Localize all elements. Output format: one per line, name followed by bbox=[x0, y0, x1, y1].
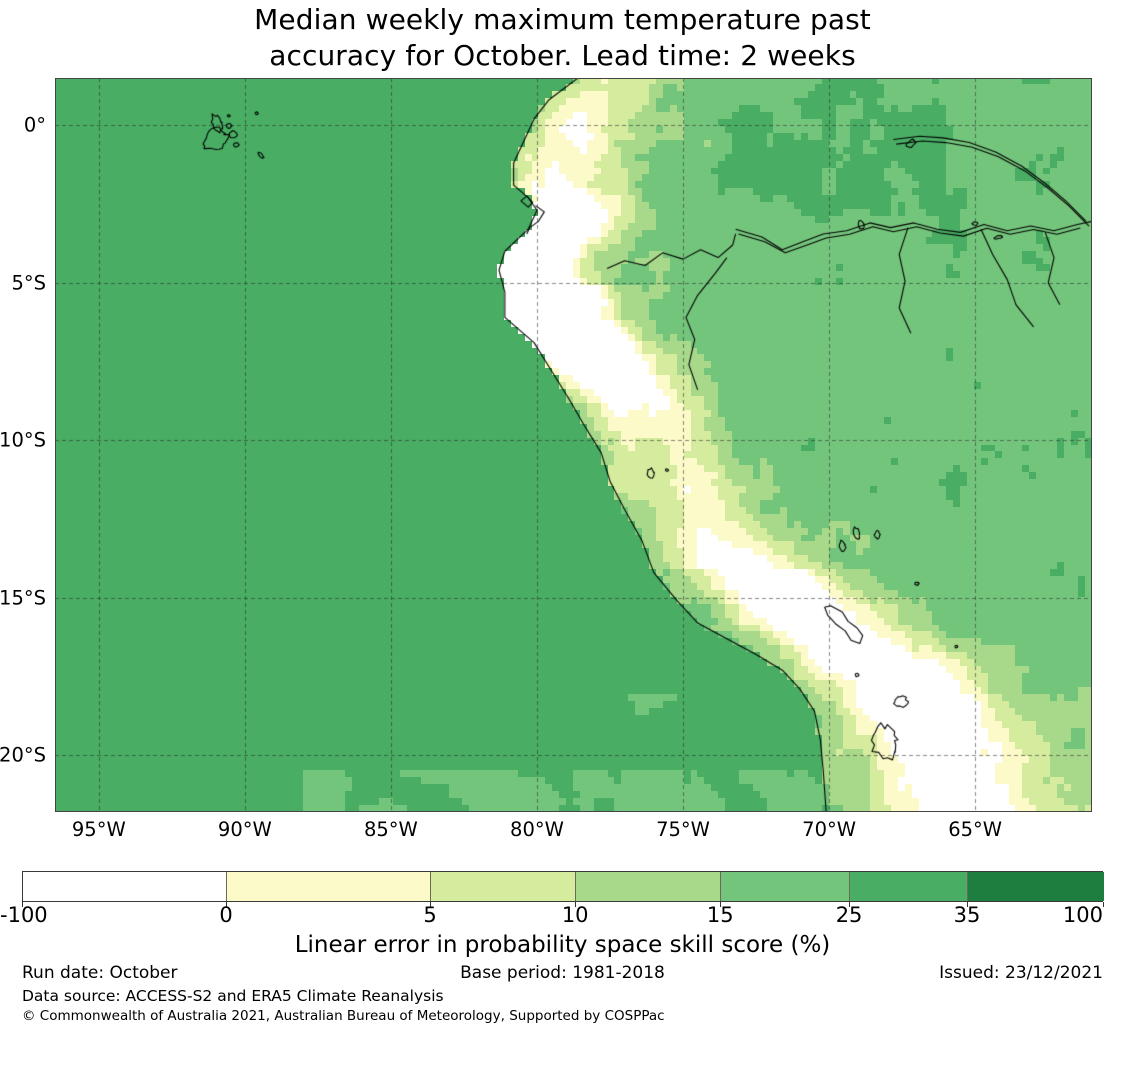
x-tick-70°W: 70°W bbox=[802, 818, 856, 841]
colorbar bbox=[22, 871, 1103, 902]
y-tick-5°S: 5°S bbox=[11, 271, 46, 294]
colorbar-segment-6 bbox=[968, 872, 1104, 901]
title-line-1: Median weekly maximum temperature past bbox=[0, 2, 1125, 38]
colorbar-tick-15: 15 bbox=[707, 903, 734, 927]
page-title: Median weekly maximum temperature past a… bbox=[0, 2, 1125, 74]
x-tick-95°W: 95°W bbox=[72, 818, 126, 841]
y-tick-0°: 0° bbox=[24, 114, 46, 137]
map-plot-area bbox=[55, 78, 1092, 812]
colorbar-gradient bbox=[22, 871, 1103, 902]
colorbar-segment-3 bbox=[576, 872, 721, 901]
x-tick-65°W: 65°W bbox=[948, 818, 1002, 841]
colorbar-tick-5: 5 bbox=[423, 903, 436, 927]
y-tick-20°S: 20°S bbox=[0, 744, 46, 767]
colorbar-segment-2 bbox=[431, 872, 576, 901]
colorbar-segment-4 bbox=[721, 872, 850, 901]
colorbar-tick-10: 10 bbox=[562, 903, 589, 927]
x-tick-90°W: 90°W bbox=[218, 818, 272, 841]
colorbar-tick-35: 35 bbox=[954, 903, 981, 927]
y-tick-15°S: 15°S bbox=[0, 586, 46, 609]
title-line-2: accuracy for October. Lead time: 2 weeks bbox=[0, 38, 1125, 74]
colorbar-segment-1 bbox=[227, 872, 431, 901]
x-tick-85°W: 85°W bbox=[364, 818, 418, 841]
colorbar-tick-25: 25 bbox=[836, 903, 863, 927]
colorbar-tick-0: 0 bbox=[219, 903, 232, 927]
footer-data-source: Data source: ACCESS-S2 and ERA5 Climate … bbox=[22, 987, 444, 1005]
x-tick-80°W: 80°W bbox=[510, 818, 564, 841]
colorbar-tick-100: 100 bbox=[1063, 903, 1103, 927]
colorbar-segment-0 bbox=[23, 872, 227, 901]
footer-issued-date: Issued: 23/12/2021 bbox=[939, 963, 1103, 983]
footer-copyright: © Commonwealth of Australia 2021, Austra… bbox=[22, 1008, 665, 1024]
x-tick-75°W: 75°W bbox=[656, 818, 710, 841]
colorbar-segment-5 bbox=[850, 872, 968, 901]
colorbar-tick--100: -100 bbox=[0, 903, 48, 927]
coastline-and-gridline-overlay bbox=[55, 78, 1092, 812]
colorbar-title: Linear error in probability space skill … bbox=[0, 932, 1125, 958]
y-tick-10°S: 10°S bbox=[0, 429, 46, 452]
